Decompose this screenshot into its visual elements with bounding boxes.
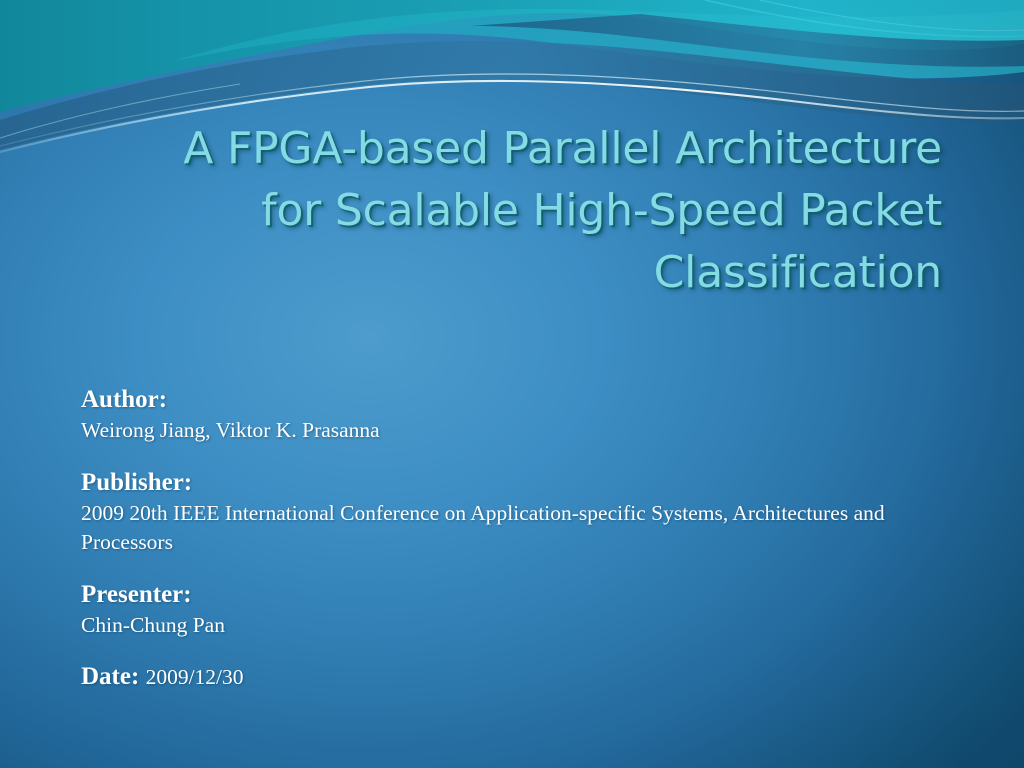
author-value: Weirong Jiang, Viktor K. Prasanna xyxy=(81,416,971,445)
metadata-group-date: Date: 2009/12/30 xyxy=(81,660,971,694)
author-label: Author: xyxy=(81,383,971,416)
date-value: 2009/12/30 xyxy=(146,665,244,689)
wave-slate-wedge xyxy=(470,14,1024,67)
metadata-group-publisher: Publisher: 2009 20th IEEE International … xyxy=(81,466,971,557)
page-title: A FPGA-based Parallel Architecture for S… xyxy=(80,118,942,304)
title-slide: A FPGA-based Parallel Architecture for S… xyxy=(0,0,1024,768)
slide-metadata: Author: Weirong Jiang, Viktor K. Prasann… xyxy=(81,383,971,694)
metadata-group-presenter: Presenter: Chin-Chung Pan xyxy=(81,578,971,640)
title-line-3: Classification xyxy=(80,242,942,304)
wave-accent-line-right-b xyxy=(760,0,1024,31)
presenter-label: Presenter: xyxy=(81,578,971,611)
publisher-label: Publisher: xyxy=(81,466,971,499)
metadata-group-author: Author: Weirong Jiang, Viktor K. Prasann… xyxy=(81,383,971,445)
presenter-value: Chin-Chung Pan xyxy=(81,611,971,640)
date-label: Date: xyxy=(81,663,139,690)
wave-accent-line-right-a xyxy=(705,0,1024,37)
publisher-value: 2009 20th IEEE International Conference … xyxy=(81,499,971,557)
title-line-2: for Scalable High-Speed Packet xyxy=(80,180,942,242)
title-line-1: A FPGA-based Parallel Architecture xyxy=(80,118,942,180)
wave-teal-field xyxy=(0,0,1024,112)
wave-cyan-band xyxy=(170,9,1024,78)
